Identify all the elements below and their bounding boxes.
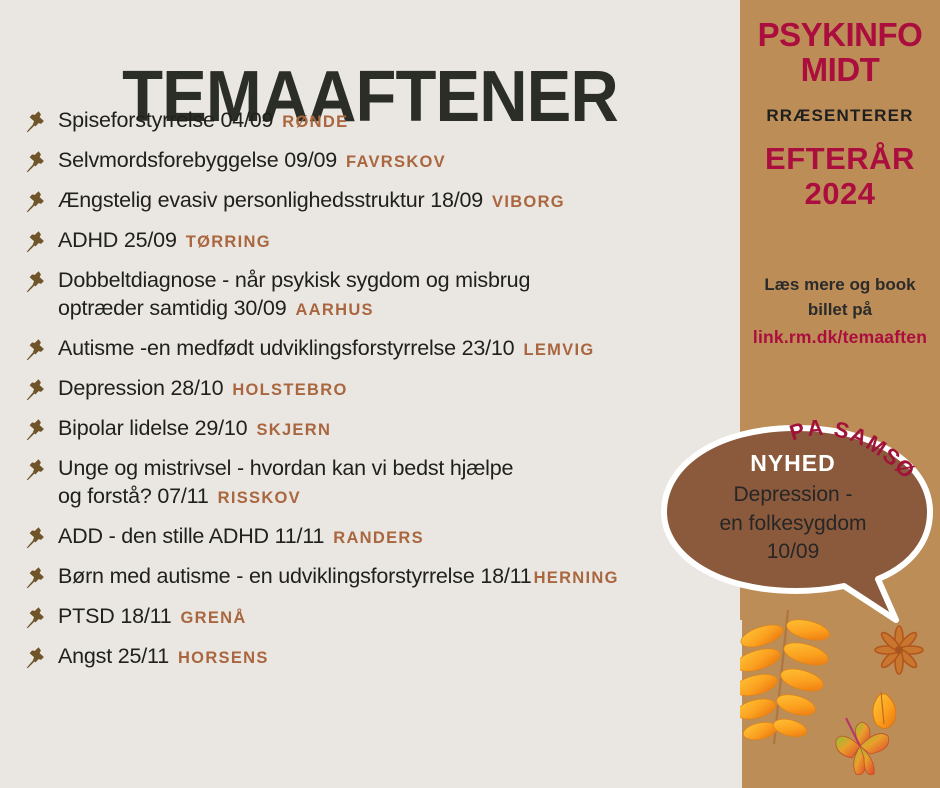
pushpin-icon (24, 605, 50, 631)
event-title: Depression 28/10 (58, 376, 223, 400)
brand-title: PSYKINFO MIDT (744, 18, 936, 88)
event-text: PTSD 18/11GRENÅ (58, 602, 247, 630)
sidebar-content: PSYKINFO MIDT RRÆSENTERER EFTERÅR 2024 L… (740, 0, 940, 350)
event-text: ADHD 25/09TØRRING (58, 226, 271, 254)
event-text: Unge og mistrivsel - hvordan kan vi beds… (58, 454, 513, 511)
pushpin-icon (24, 377, 50, 403)
event-row: Depression 28/10HOLSTEBRO (24, 374, 744, 403)
pushpin-icon (24, 189, 50, 215)
pa-samso-curved-label: PÅ SAMSØ (786, 420, 936, 510)
pushpin-icon (24, 229, 50, 255)
pushpin-icon (24, 457, 50, 483)
event-title-line-2: optræder samtidig 30/09AARHUS (58, 294, 530, 322)
event-list: Spiseforstyrrelse 04/09RØNDESelvmordsfor… (24, 106, 744, 682)
event-row: Selvmordsforebyggelse 09/09FAVRSKOV (24, 146, 744, 175)
event-city: VIBORG (492, 193, 565, 211)
pushpin-icon (24, 417, 50, 443)
event-row: ADD - den stille ADHD 11/11RANDERS (24, 522, 744, 551)
event-text: Ængstelig evasiv personlighedsstruktur 1… (58, 186, 565, 214)
brand-line-1: PSYKINFO (758, 16, 923, 53)
event-title: PTSD 18/11 (58, 604, 172, 628)
event-city: LEMVIG (523, 341, 594, 359)
event-row: Angst 25/11HORSENS (24, 642, 744, 671)
svg-text:PÅ SAMSØ: PÅ SAMSØ (787, 420, 921, 484)
event-city: RANDERS (333, 529, 424, 547)
pushpin-icon (24, 269, 50, 295)
news-speech-bubble: NYHED Depression - en folkesygdom 10/09 … (658, 424, 940, 639)
event-title: Unge og mistrivsel - hvordan kan vi beds… (58, 456, 513, 480)
event-title-line-2: og forstå? 07/11RISSKOV (58, 482, 513, 510)
pa-samso-text: PÅ SAMSØ (787, 420, 921, 484)
event-city: RØNDE (282, 113, 348, 131)
event-text: Dobbeltdiagnose - når psykisk sygdom og … (58, 266, 530, 323)
event-row: Børn med autisme - en udviklingsforstyrr… (24, 562, 744, 591)
event-text: Spiseforstyrrelse 04/09RØNDE (58, 106, 348, 134)
event-city: TØRRING (186, 233, 271, 251)
event-city: SKJERN (256, 421, 331, 439)
event-city: HERNING (534, 569, 619, 587)
event-row: Spiseforstyrrelse 04/09RØNDE (24, 106, 744, 135)
pushpin-icon (24, 149, 50, 175)
event-row: Autisme -en medfødt udviklingsforstyrrel… (24, 334, 744, 363)
event-city: AARHUS (295, 301, 373, 319)
event-city: HORSENS (178, 649, 269, 667)
event-row: ADHD 25/09TØRRING (24, 226, 744, 255)
small-leaf-icon (873, 692, 896, 729)
event-title: ADHD 25/09 (58, 228, 177, 252)
event-text: Bipolar lidelse 29/10SKJERN (58, 414, 331, 442)
event-row: Unge og mistrivsel - hvordan kan vi beds… (24, 454, 744, 511)
event-row: Ængstelig evasiv personlighedsstruktur 1… (24, 186, 744, 215)
brand-line-2: MIDT (744, 53, 936, 88)
event-row: PTSD 18/11GRENÅ (24, 602, 744, 631)
pushpin-icon (24, 109, 50, 135)
event-title: Angst 25/11 (58, 644, 169, 668)
event-city: RISSKOV (218, 489, 301, 507)
event-title: Selvmordsforebyggelse 09/09 (58, 148, 337, 172)
booking-info: Læs mere og book billet på link.rm.dk/te… (740, 273, 940, 350)
event-text: Depression 28/10HOLSTEBRO (58, 374, 348, 402)
pushpin-icon (24, 525, 50, 551)
booking-url[interactable]: link.rm.dk/temaaften (740, 325, 940, 350)
event-text: Autisme -en medfødt udviklingsforstyrrel… (58, 334, 595, 362)
event-title: ADD - den stille ADHD 11/11 (58, 524, 324, 548)
event-title: Dobbeltdiagnose - når psykisk sygdom og … (58, 268, 530, 292)
event-title: Bipolar lidelse 29/10 (58, 416, 247, 440)
pushpin-icon (24, 337, 50, 363)
season-title: EFTERÅR 2024 (740, 142, 940, 211)
booking-line-2: billet på (740, 298, 940, 323)
season-label: EFTERÅR (765, 141, 915, 176)
event-title: Børn med autisme - en udviklingsforstyrr… (58, 564, 532, 588)
event-text: ADD - den stille ADHD 11/11RANDERS (58, 522, 424, 550)
booking-line-1: Læs mere og book (740, 273, 940, 298)
event-row: Bipolar lidelse 29/10SKJERN (24, 414, 744, 443)
presents-label: RRÆSENTERER (740, 106, 940, 126)
event-city: HOLSTEBRO (232, 381, 347, 399)
event-city: GRENÅ (181, 609, 247, 627)
event-text: Selvmordsforebyggelse 09/09FAVRSKOV (58, 146, 446, 174)
event-title: Ængstelig evasiv personlighedsstruktur 1… (58, 188, 483, 212)
event-city: FAVRSKOV (346, 153, 446, 171)
season-year: 2024 (740, 177, 940, 212)
event-text: Børn med autisme - en udviklingsforstyrr… (58, 562, 619, 590)
event-title: Spiseforstyrrelse 04/09 (58, 108, 273, 132)
event-text: Angst 25/11HORSENS (58, 642, 269, 670)
event-title: Autisme -en medfødt udviklingsforstyrrel… (58, 336, 514, 360)
pushpin-icon (24, 645, 50, 671)
pushpin-icon (24, 565, 50, 591)
bubble-line-2: en folkesygdom (682, 510, 904, 539)
event-row: Dobbeltdiagnose - når psykisk sygdom og … (24, 266, 744, 323)
bubble-line-3: 10/09 (682, 538, 904, 567)
poster-canvas: PSYKINFO MIDT RRÆSENTERER EFTERÅR 2024 L… (0, 0, 940, 788)
